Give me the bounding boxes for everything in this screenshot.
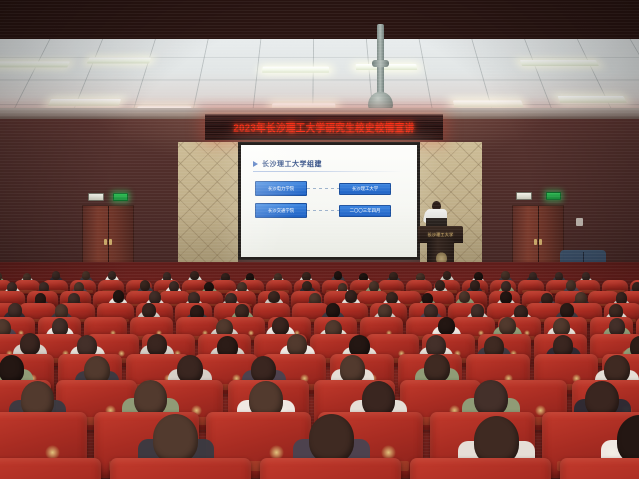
door-handle-icon xyxy=(539,239,542,245)
ceiling-light xyxy=(262,67,329,73)
audience-head xyxy=(52,271,60,280)
audience-head xyxy=(268,291,280,304)
audience-head xyxy=(20,333,40,355)
projector-collar xyxy=(372,60,389,67)
audience-head xyxy=(309,414,354,463)
podium-text: 长沙理工大学 xyxy=(428,232,454,238)
projection-screen: 长沙理工大学组建 长沙电力学院 长沙理工大学 长沙交通学院 二〇〇三年四月 xyxy=(241,145,417,257)
audience-head xyxy=(302,281,312,292)
audience-head xyxy=(326,303,340,318)
audience-head xyxy=(438,317,455,335)
projection-screen-frame: 长沙理工大学组建 长沙电力学院 长沙理工大学 长沙交通学院 二〇〇三年四月 xyxy=(238,142,420,260)
wall-sign-left xyxy=(88,193,104,201)
audience-head xyxy=(334,271,342,280)
slide-title-text: 长沙理工大学组建 xyxy=(262,159,322,169)
door-handle-icon xyxy=(104,239,107,245)
flow-box: 长沙电力学院 xyxy=(255,181,307,196)
audience-head xyxy=(340,355,366,383)
seat-crest-icon xyxy=(248,330,254,336)
auditorium-seat xyxy=(560,458,639,479)
flow-box: 长沙理工大学 xyxy=(339,183,391,195)
audience-head xyxy=(177,355,203,383)
audience-head xyxy=(8,303,22,318)
audience-head xyxy=(169,281,179,292)
flow-row: 长沙交通学院 二〇〇三年四月 xyxy=(255,203,391,218)
audience-head xyxy=(424,354,450,382)
ceiling-light xyxy=(520,60,599,66)
wall-speaker-icon xyxy=(576,218,583,226)
led-banner: 2023年长沙理工大学研究生校史校情宣讲 xyxy=(205,114,443,140)
flow-row: 长沙电力学院 长沙理工大学 xyxy=(255,181,391,196)
exit-sign-icon xyxy=(113,193,128,201)
audience-head xyxy=(82,271,90,280)
auditorium-seat xyxy=(260,458,401,479)
audience-head xyxy=(0,355,24,383)
ceiling-light xyxy=(87,58,151,64)
audience-head xyxy=(113,290,125,303)
audience-head xyxy=(272,317,289,335)
audience-head xyxy=(140,280,150,291)
auditorium-photo: 2023年长沙理工大学研究生校史校情宣讲 长沙理工大学组建 长沙电力学院 长沙理… xyxy=(0,0,639,479)
audience-head xyxy=(609,318,626,336)
audience-head xyxy=(474,380,508,416)
audience-head xyxy=(566,280,576,291)
slide-title-rule xyxy=(253,171,403,172)
audience-head xyxy=(108,271,116,280)
flow-box: 二〇〇三年四月 xyxy=(339,205,391,217)
exit-sign-icon xyxy=(546,192,561,200)
audience-seating-area xyxy=(0,262,639,479)
flow-connector xyxy=(307,188,339,189)
audience-head xyxy=(501,281,511,292)
audience-head xyxy=(287,334,307,356)
led-banner-text: 2023年长沙理工大学研究生校史校情宣讲 xyxy=(233,119,414,135)
audience-head xyxy=(560,303,574,318)
flow-box: 长沙交通学院 xyxy=(255,203,307,218)
auditorium-seat xyxy=(110,458,251,479)
audience-head xyxy=(190,271,198,280)
auditorium-seat xyxy=(0,458,101,479)
flow-connector xyxy=(307,210,339,211)
acoustic-panel-left xyxy=(178,142,238,272)
audience-head xyxy=(470,280,480,291)
door-handle-icon xyxy=(534,239,537,245)
ceiling-light xyxy=(0,61,70,67)
audience-head xyxy=(443,271,451,280)
audience-head xyxy=(134,380,168,416)
audience-head xyxy=(153,414,198,463)
bullet-triangle-icon xyxy=(253,161,258,167)
audience-head xyxy=(435,280,445,291)
audience-head xyxy=(345,290,357,303)
slide-title: 长沙理工大学组建 xyxy=(253,159,322,169)
door-handle-icon xyxy=(109,239,112,245)
auditorium-seat xyxy=(410,458,551,479)
audience-head xyxy=(147,334,167,356)
audience-head xyxy=(149,291,161,304)
wall-sign-right xyxy=(516,192,532,200)
audience-head xyxy=(499,317,516,335)
